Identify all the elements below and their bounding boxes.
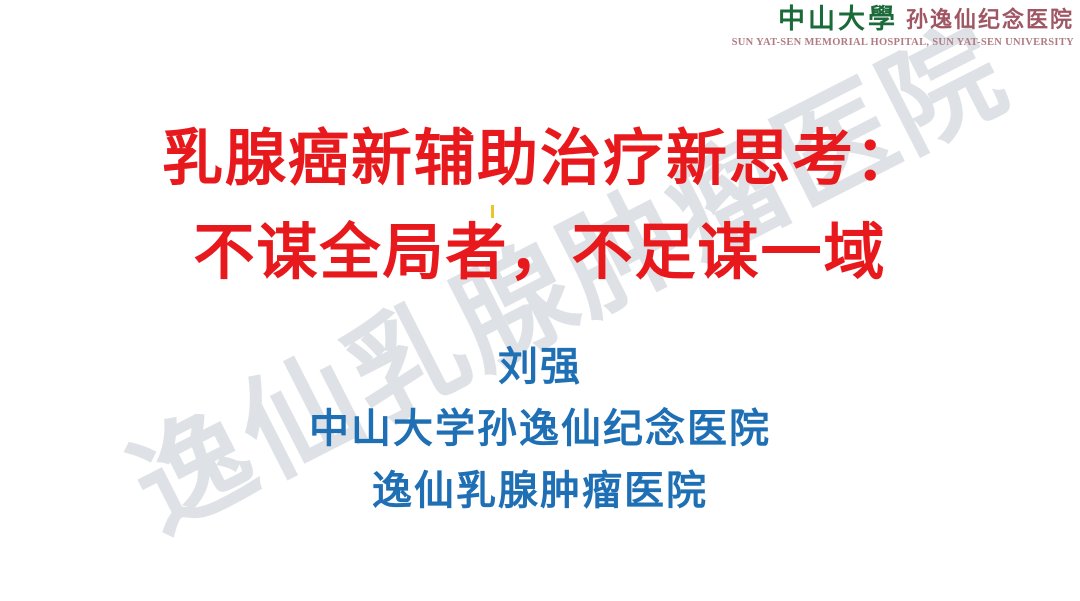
title-line-2: 不谋全局者，不足谋一域 (0, 206, 1080, 300)
institution-logo: 中山大學 孙逸仙纪念医院 SUN YAT-SEN MEMORIAL HOSPIT… (732, 6, 1074, 49)
presenter-affiliation-secondary: 逸仙乳腺肿瘤医院 (0, 460, 1080, 522)
title-line-1: 乳腺癌新辅助治疗新思考： (0, 112, 1080, 206)
presentation-slide: 逸仙乳腺肿瘤医院 中山大學 孙逸仙纪念医院 SUN YAT-SEN MEMORI… (0, 0, 1080, 601)
logo-hospital-name: 孙逸仙纪念医院 (906, 9, 1074, 33)
yellow-artifact-mark (491, 205, 494, 218)
presenter-affiliation-primary: 中山大学孙逸仙纪念医院 (0, 398, 1080, 460)
logo-chinese-row: 中山大學 孙逸仙纪念医院 (732, 6, 1074, 33)
slide-title: 乳腺癌新辅助治疗新思考： 不谋全局者，不足谋一域 (0, 112, 1080, 300)
logo-university-name: 中山大學 (778, 6, 898, 33)
logo-english-name: SUN YAT-SEN MEMORIAL HOSPITAL, SUN YAT-S… (732, 38, 1074, 49)
presenter-name: 刘强 (0, 336, 1080, 398)
presenter-block: 刘强 中山大学孙逸仙纪念医院 逸仙乳腺肿瘤医院 (0, 336, 1080, 522)
